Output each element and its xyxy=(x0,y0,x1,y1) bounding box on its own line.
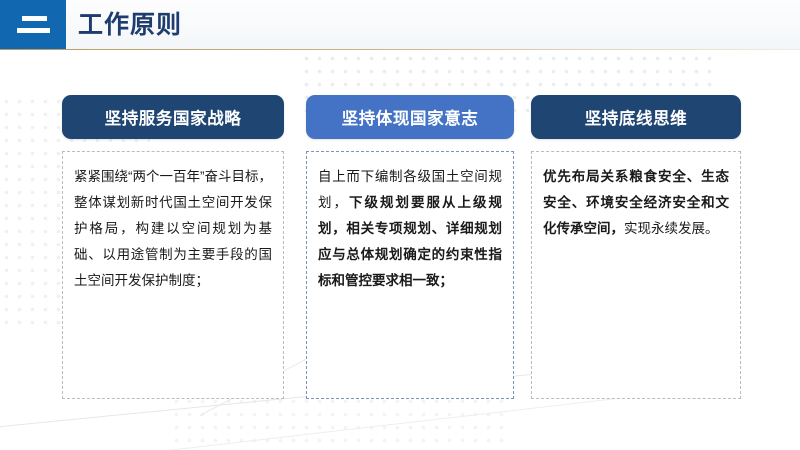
principle-card-1-text-normal: 紧紧围绕“两个一百年”奋斗目标，整体谋划新时代国土空间开发保护格局，构建以空间规… xyxy=(74,169,272,288)
principle-card-3[interactable]: 坚持底线思维 优先布局关系粮食安全、生态安全、环境安全经济安全和文化传承空间，实… xyxy=(531,95,741,399)
principle-card-1-body: 紧紧围绕“两个一百年”奋斗目标，整体谋划新时代国土空间开发保护格局，构建以空间规… xyxy=(62,151,284,399)
principle-card-2[interactable]: 坚持体现国家意志 自上而下编制各级国土空间规划，下级规划要服从上级规划，相关专项… xyxy=(306,95,514,399)
section-number-badge xyxy=(0,0,66,49)
principle-card-3-heading: 坚持底线思维 xyxy=(531,95,741,139)
slide-root: 工作原则 坚持服务国家战略 紧紧围绕“两个一百年”奋斗目标，整体谋划新时代国土空… xyxy=(0,0,800,450)
principles-card-row: 坚持服务国家战略 紧紧围绕“两个一百年”奋斗目标，整体谋划新时代国土空间开发保护… xyxy=(0,50,800,450)
header-divider xyxy=(0,49,800,50)
principle-card-2-heading: 坚持体现国家意志 xyxy=(306,95,514,139)
principle-card-1[interactable]: 坚持服务国家战略 紧紧围绕“两个一百年”奋斗目标，整体谋划新时代国土空间开发保护… xyxy=(62,95,284,399)
page-title: 工作原则 xyxy=(78,5,182,45)
numeral-two-icon xyxy=(17,16,50,33)
principle-card-3-text-normal: 实现永续发展。 xyxy=(624,221,719,236)
slide-header: 工作原则 xyxy=(0,0,800,50)
principle-card-1-heading: 坚持服务国家战略 xyxy=(62,95,284,139)
principle-card-3-body: 优先布局关系粮食安全、生态安全、环境安全经济安全和文化传承空间，实现永续发展。 xyxy=(531,151,741,399)
principle-card-2-body: 自上而下编制各级国土空间规划，下级规划要服从上级规划，相关专项规划、详细规划应与… xyxy=(306,151,514,399)
